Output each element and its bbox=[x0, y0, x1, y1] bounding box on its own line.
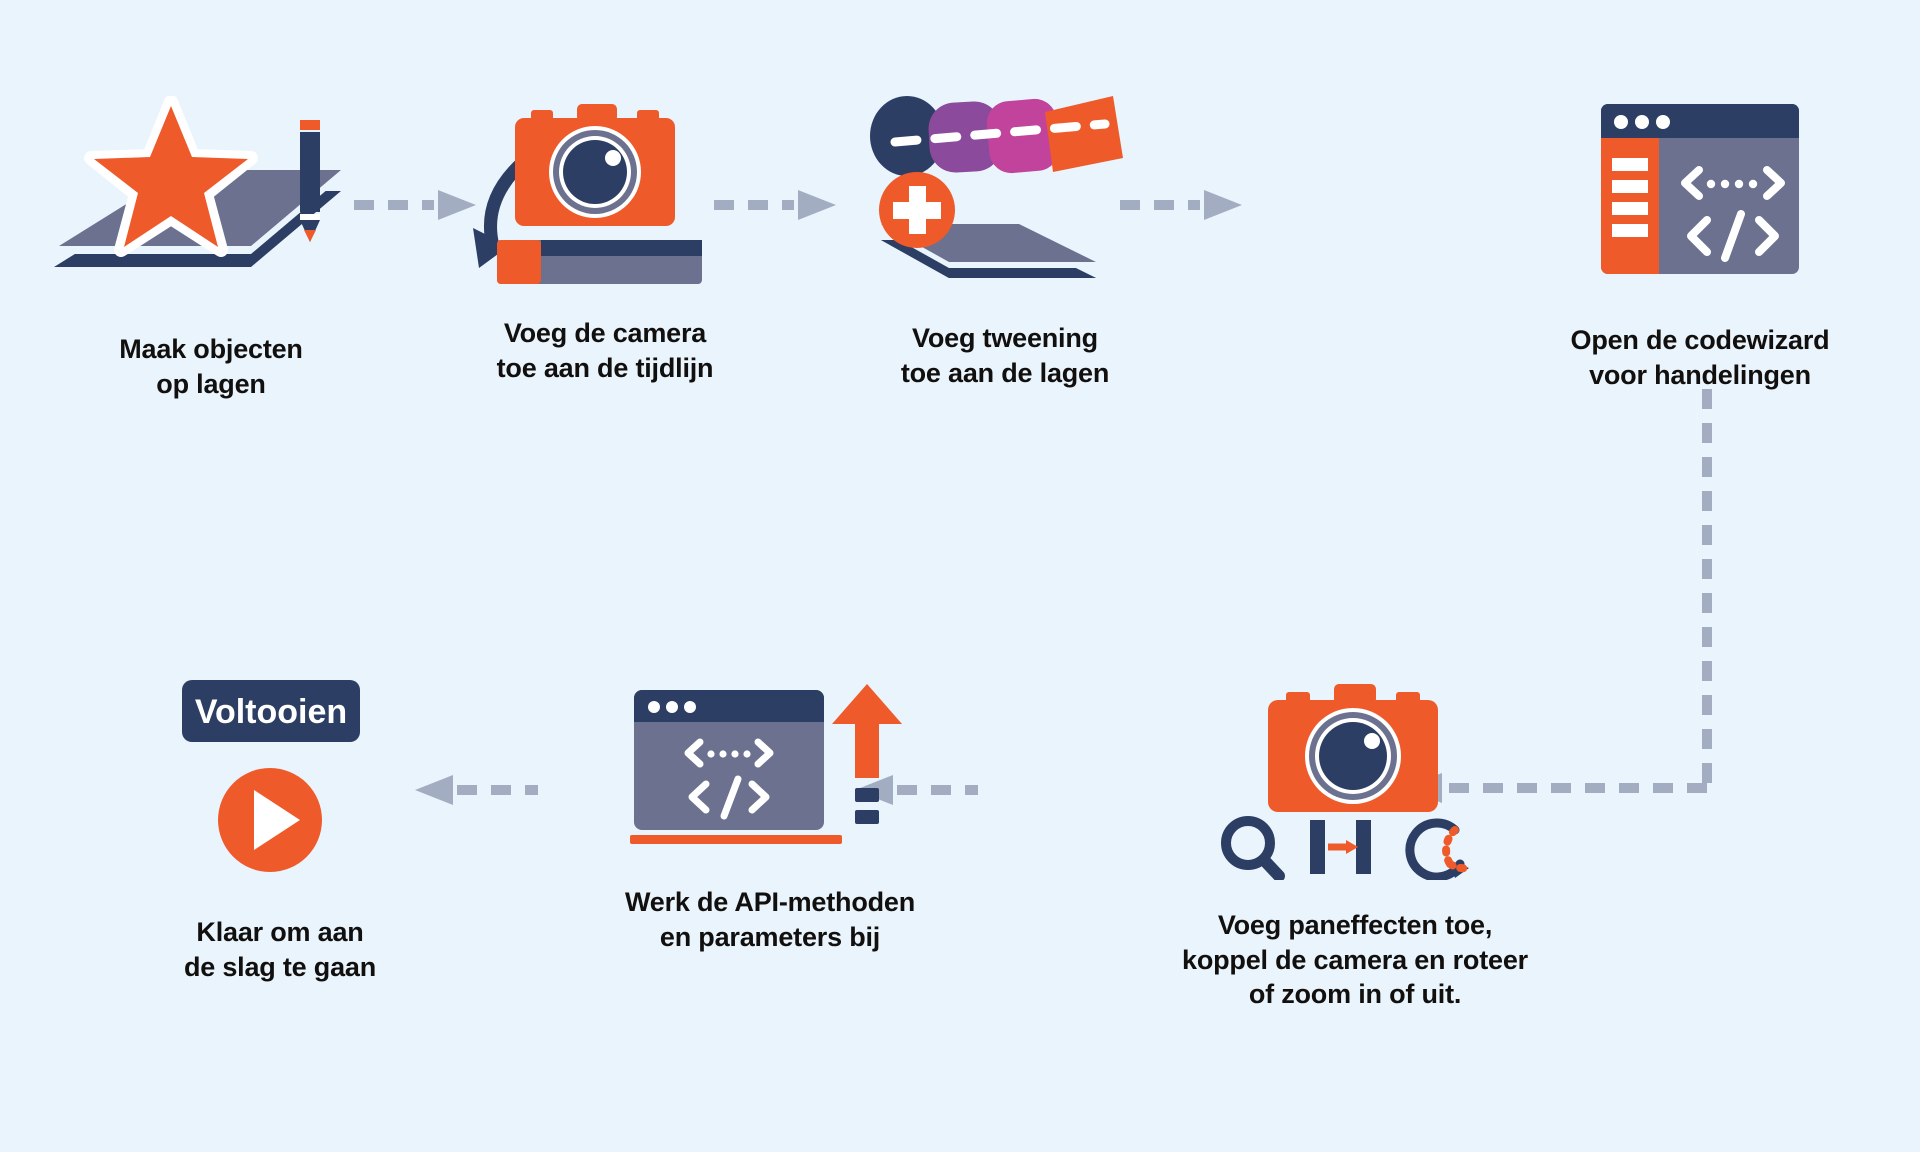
step-label: Maak objecten op lagen bbox=[119, 332, 302, 401]
step-label: Voeg paneffecten toe, koppel de camera e… bbox=[1182, 908, 1528, 1012]
step-werk-api-methoden[interactable]: Werk de API-methoden en parameters bij bbox=[560, 680, 980, 954]
code-window-update-icon bbox=[630, 680, 910, 855]
step-open-codewizard[interactable]: Open de codewizard voor handelingen bbox=[1480, 96, 1920, 392]
code-wizard-window-icon bbox=[1595, 96, 1805, 281]
connector-arrow-right bbox=[712, 190, 837, 225]
step-maak-objecten[interactable]: Maak objecten op lagen bbox=[26, 96, 396, 401]
step-label: Klaar om aan de slag te gaan bbox=[184, 915, 376, 984]
step-voeg-tweening[interactable]: Voeg tweening toe aan de lagen bbox=[830, 96, 1180, 390]
step-label: Voeg tweening toe aan de lagen bbox=[901, 321, 1109, 390]
layers-star-pencil-icon bbox=[51, 96, 371, 296]
workflow-diagram: Maak objecten op lagen bbox=[0, 0, 1920, 1152]
step-label: Werk de API-methoden en parameters bij bbox=[625, 885, 915, 954]
step-voeg-paneffecten[interactable]: Voeg paneffecten toe, koppel de camera e… bbox=[1120, 680, 1590, 1012]
camera-timeline-icon bbox=[455, 96, 755, 286]
step-klaar-om-aan-de-slag[interactable]: Voltooien Klaar om aan de slag te gaan bbox=[130, 680, 430, 984]
connector-arrow-right bbox=[1118, 190, 1243, 225]
voltooien-button-label: Voltooien bbox=[195, 693, 347, 731]
camera-pan-zoom-rotate-icon bbox=[1210, 680, 1500, 880]
step-voeg-camera[interactable]: Voeg de camera toe aan de tijdlijn bbox=[430, 96, 780, 385]
step-label: Open de codewizard voor handelingen bbox=[1571, 323, 1830, 392]
play-button-icon: Voltooien bbox=[170, 680, 390, 875]
step-label: Voeg de camera toe aan de tijdlijn bbox=[497, 316, 714, 385]
tweening-shapes-layers-icon bbox=[855, 96, 1155, 291]
